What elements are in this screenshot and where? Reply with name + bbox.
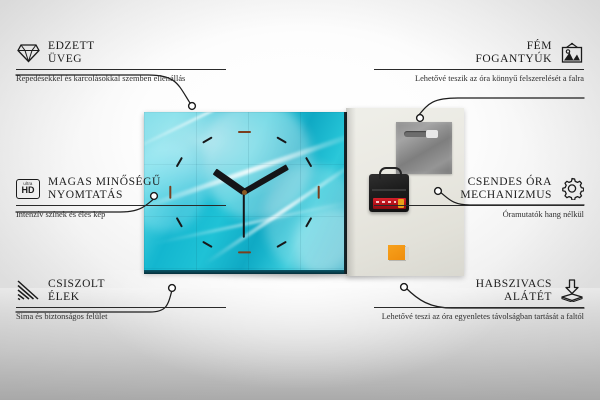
callout-rule [374,307,584,308]
callout-header: ultra HD MAGAS MINŐSÉGŰNYOMTATÁS [16,176,226,201]
foam-spacer-pad [388,245,405,260]
clock-center-pivot [242,190,247,195]
callout-title: MAGAS MINŐSÉGŰNYOMTATÁS [48,176,161,201]
clock-tick [202,240,213,248]
callout-rule [374,205,584,206]
bracket-slot [404,131,438,137]
callout-title: HABSZIVACSALÁTÉT [476,278,552,303]
clock-tick [304,157,312,168]
callout-silent-mechanism: CSENDES ÓRAMECHANIZMUS Óramutatók hang n… [374,176,584,221]
callout-header: FÉMFOGANTYÚK [374,40,584,65]
callout-description: Intenzív színek és éles kép [16,210,226,220]
callout-foam-pad: HABSZIVACSALÁTÉT Lehetővé teszi az óra e… [374,278,584,323]
callout-header: CSISZOLTÉLEK [16,278,226,303]
callout-rule [16,307,226,308]
clock-tick [276,240,287,248]
callout-rule [16,205,226,206]
clock-tick [238,131,251,133]
beveled-edge-icon [16,280,40,302]
product-infographic: EDZETTÜVEG Repedésekkel és karcolásokkal… [0,0,600,400]
foam-pad-icon [560,280,584,302]
callout-description: Óramutatók hang nélkül [374,210,584,220]
clock-tick [176,157,184,168]
foam-pad-side [405,247,409,260]
ultra-hd-badge-main: HD [22,186,35,195]
clock-tick [304,217,312,228]
callout-header: CSENDES ÓRAMECHANIZMUS [374,176,584,201]
callout-title: CSENDES ÓRAMECHANIZMUS [460,176,552,201]
ultra-hd-icon: ultra HD [16,178,40,200]
callout-description: Repedésekkel és karcolásokkal szemben el… [16,74,226,84]
callout-description: Lehetővé teszik az óra könnyű felszerelé… [374,74,584,84]
callout-metal-handles: FÉMFOGANTYÚK Lehetővé teszik az óra könn… [374,40,584,85]
callout-title: FÉMFOGANTYÚK [475,40,552,65]
clock-tick [317,185,319,198]
callout-header: EDZETTÜVEG [16,40,226,65]
clock-minute-hand [243,165,289,195]
clock-tick [276,136,287,144]
gear-icon [560,178,584,200]
callout-high-quality-print: ultra HD MAGAS MINŐSÉGŰNYOMTATÁS Intenzí… [16,176,226,221]
callout-rule [374,69,584,70]
back-panel-inner-shadow [346,108,356,276]
callout-header: HABSZIVACSALÁTÉT [374,278,584,303]
metal-hanging-bracket [396,122,452,174]
glass-panel-bottom-edge [144,270,344,274]
callout-description: Lehetővé teszi az óra egyenletes távolsá… [374,312,584,322]
callout-description: Sima és biztonságos felület [16,312,226,322]
callout-polished-edges: CSISZOLTÉLEK Sima és biztonságos felület [16,278,226,323]
callout-title: EDZETTÜVEG [48,40,95,65]
clock-tick [202,136,213,144]
clock-tick [238,251,251,253]
diamond-icon [16,42,40,64]
picture-hanger-icon [560,42,584,64]
callout-tempered-glass: EDZETTÜVEG Repedésekkel és karcolásokkal… [16,40,226,85]
callout-title: CSISZOLTÉLEK [48,278,105,303]
clock-second-hand [243,192,245,238]
callout-rule [16,69,226,70]
